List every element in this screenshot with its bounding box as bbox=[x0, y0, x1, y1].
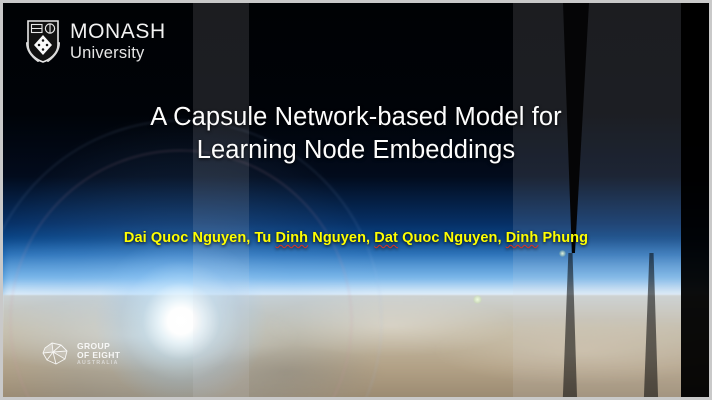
monogram-wedge bbox=[681, 3, 712, 400]
misspelled-word: Dinh bbox=[506, 230, 539, 246]
author-list: Dai Quoc Nguyen, Tu Dinh Nguyen, Dat Quo… bbox=[3, 230, 709, 246]
author-list-text: Dai Quoc Nguyen, Tu Dinh Nguyen, Dat Quo… bbox=[124, 230, 588, 246]
author-name-fragment: Phung bbox=[538, 230, 588, 246]
author-name-fragment: Dai Quoc Nguyen, Tu bbox=[124, 230, 276, 246]
monash-logo-line1: MONASH bbox=[70, 21, 166, 42]
misspelled-word: Dat bbox=[374, 230, 398, 246]
author-name-fragment: Nguyen, bbox=[308, 230, 374, 246]
go8-logo-line2: OF EIGHT bbox=[77, 351, 120, 360]
group-of-eight-australia-logo: GROUP OF EIGHT AUSTRALIA bbox=[41, 341, 120, 367]
monash-university-logo: MONASH University bbox=[25, 19, 166, 63]
slide-title: A Capsule Network-based Model for Learni… bbox=[3, 101, 709, 167]
go8-logo-line3: AUSTRALIA bbox=[77, 361, 120, 366]
misspelled-word: Dinh bbox=[276, 230, 309, 246]
monash-logo-line2: University bbox=[70, 45, 166, 62]
australia-origami-map-icon bbox=[41, 341, 71, 367]
monash-shield-crest-icon bbox=[25, 19, 61, 63]
slide-title-line-2: Learning Node Embeddings bbox=[3, 134, 709, 167]
author-name-fragment: Quoc Nguyen, bbox=[398, 230, 506, 246]
presentation-slide: MONASH University A Capsule Network-base… bbox=[0, 0, 712, 400]
slide-title-line-1: A Capsule Network-based Model for bbox=[3, 101, 709, 134]
